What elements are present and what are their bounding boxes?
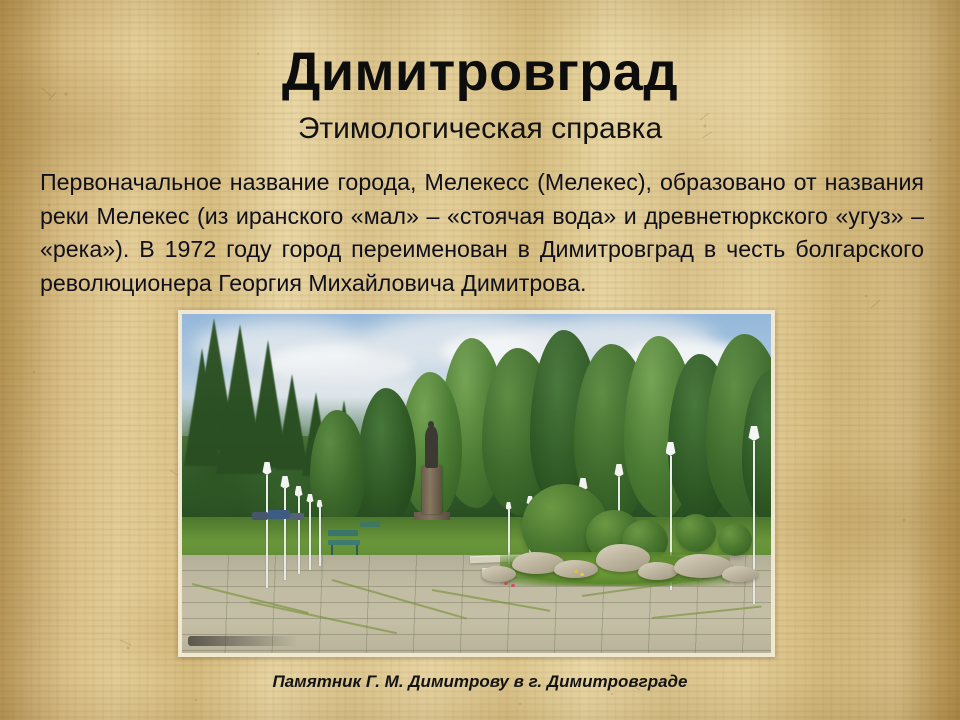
lamp-post xyxy=(280,476,290,580)
lamp-head xyxy=(666,442,676,456)
page-title: Димитровград xyxy=(0,44,960,101)
park-bench-back xyxy=(328,530,358,536)
flower xyxy=(504,582,508,585)
round-shrub xyxy=(676,514,716,552)
slide: Димитровград Этимологическая справка Пер… xyxy=(0,0,960,720)
pavement-shadow xyxy=(188,636,298,646)
statue-head xyxy=(428,421,434,428)
lamp-head xyxy=(263,462,272,475)
flower xyxy=(511,584,515,587)
lamp-pole xyxy=(309,502,311,570)
photo-caption: Памятник Г. М. Димитрову в г. Димитровгр… xyxy=(0,672,960,692)
distant-vehicle xyxy=(290,513,304,520)
lamp-pole xyxy=(298,496,300,574)
distant-vehicle xyxy=(268,510,290,519)
decorative-rock xyxy=(554,560,598,578)
lamp-head xyxy=(615,464,624,477)
lamp-post xyxy=(306,494,314,570)
decorative-rock xyxy=(722,566,758,582)
lamp-pole xyxy=(319,507,321,566)
photo-frame xyxy=(178,310,775,657)
statue-pedestal xyxy=(422,466,442,514)
lamp-post xyxy=(294,486,303,574)
lamp-pole xyxy=(284,488,286,580)
decorative-rock xyxy=(638,562,678,580)
lamp-post xyxy=(262,462,272,588)
park-bench-leg xyxy=(356,545,358,555)
flower xyxy=(574,570,578,573)
lamp-post xyxy=(316,500,323,566)
conifer-tree xyxy=(184,348,220,466)
park-bench-leg xyxy=(331,545,333,555)
photo-monument-dimitrov xyxy=(182,314,771,653)
body-paragraph: Первоначальное название города, Мелекесс… xyxy=(40,166,924,300)
distant-vehicle xyxy=(252,512,268,520)
lamp-pole xyxy=(266,475,268,588)
page-subtitle: Этимологическая справка xyxy=(0,112,960,147)
lamp-pole xyxy=(753,441,755,604)
lamp-head xyxy=(749,426,760,441)
statue-figure xyxy=(425,426,438,468)
park-bench-back xyxy=(360,522,380,527)
flower xyxy=(580,573,584,576)
decorative-rock xyxy=(482,566,516,582)
